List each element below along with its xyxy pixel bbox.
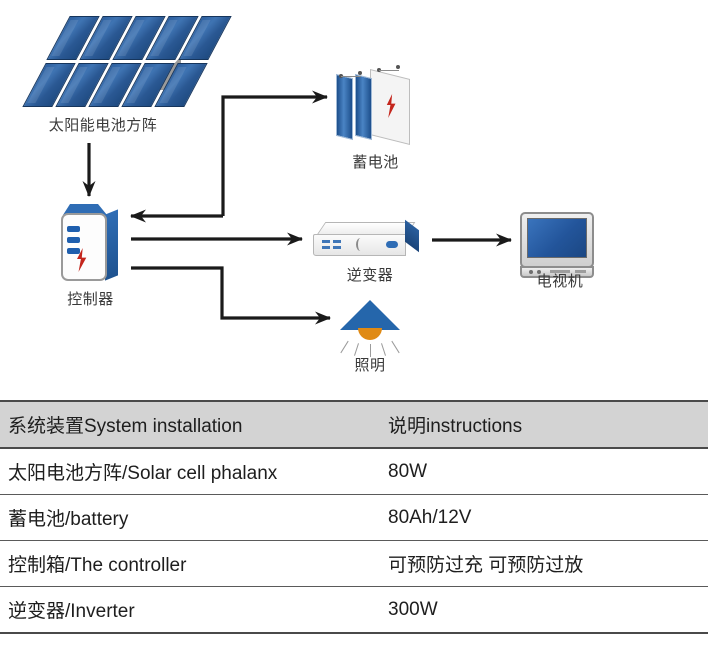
table-row: 太阳电池方阵/Solar cell phalanx 80W — [0, 448, 708, 495]
cell-device: 控制箱/The controller — [0, 541, 380, 587]
table-row: 逆变器/Inverter 300W — [0, 587, 708, 634]
table-row: 控制箱/The controller 可预防过充 可预防过放 — [0, 541, 708, 587]
cell-device: 太阳电池方阵/Solar cell phalanx — [0, 448, 380, 495]
cell-spec: 80W — [380, 448, 708, 495]
cell-spec: 80Ah/12V — [380, 495, 708, 541]
cell-spec: 300W — [380, 587, 708, 634]
column-header-instructions: 说明instructions — [380, 401, 708, 448]
wire-to-battery — [223, 97, 327, 216]
specification-table: 系统装置System installation 说明instructions 太… — [0, 400, 708, 634]
column-header-device: 系统装置System installation — [0, 401, 380, 448]
table-header-row: 系统装置System installation 说明instructions — [0, 401, 708, 448]
solar-system-diagram: 太阳能电池方阵 控制器 蓄电池 逆变器 — [0, 0, 708, 396]
cell-spec: 可预防过充 可预防过放 — [380, 541, 708, 587]
wire-controller-to-lamp — [131, 268, 330, 318]
table-row: 蓄电池/battery 80Ah/12V — [0, 495, 708, 541]
connection-wires — [0, 0, 708, 396]
cell-device: 蓄电池/battery — [0, 495, 380, 541]
cell-device: 逆变器/Inverter — [0, 587, 380, 634]
